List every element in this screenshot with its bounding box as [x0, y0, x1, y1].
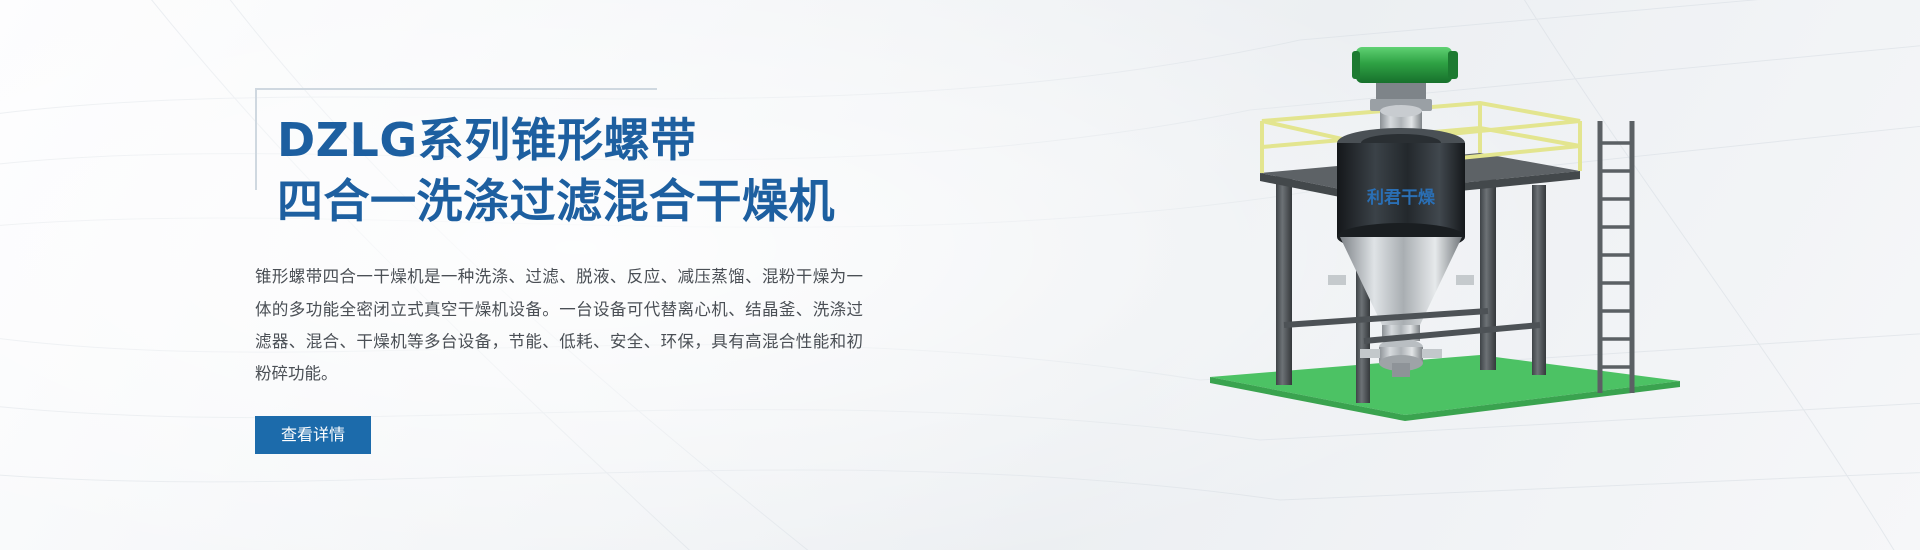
- access-ladder: [1600, 121, 1632, 393]
- drive-motor: [1352, 47, 1458, 111]
- vessel-body: 利君干燥: [1337, 143, 1465, 251]
- machine-illustration: 利君干燥: [1180, 25, 1740, 445]
- vessel-brand-label: 利君干燥: [1367, 187, 1436, 208]
- hero-description: 锥形螺带四合一干燥机是一种洗涤、过滤、脱液、反应、减压蒸馏、混粉干燥为一体的多功…: [255, 261, 863, 390]
- view-details-button[interactable]: 查看详情: [255, 416, 371, 454]
- title-line-1: DZLG系列锥形螺带: [277, 113, 697, 167]
- page-title: DZLG系列锥形螺带 四合一洗涤过滤混合干燥机: [277, 110, 895, 231]
- hero-banner: DZLG系列锥形螺带 四合一洗涤过滤混合干燥机 锥形螺带四合一干燥机是一种洗涤、…: [0, 0, 1920, 550]
- hero-content: DZLG系列锥形螺带 四合一洗涤过滤混合干燥机 锥形螺带四合一干燥机是一种洗涤、…: [255, 88, 895, 454]
- title-frame: DZLG系列锥形螺带 四合一洗涤过滤混合干燥机: [255, 88, 895, 237]
- title-line-2: 四合一洗涤过滤混合干燥机: [277, 171, 895, 232]
